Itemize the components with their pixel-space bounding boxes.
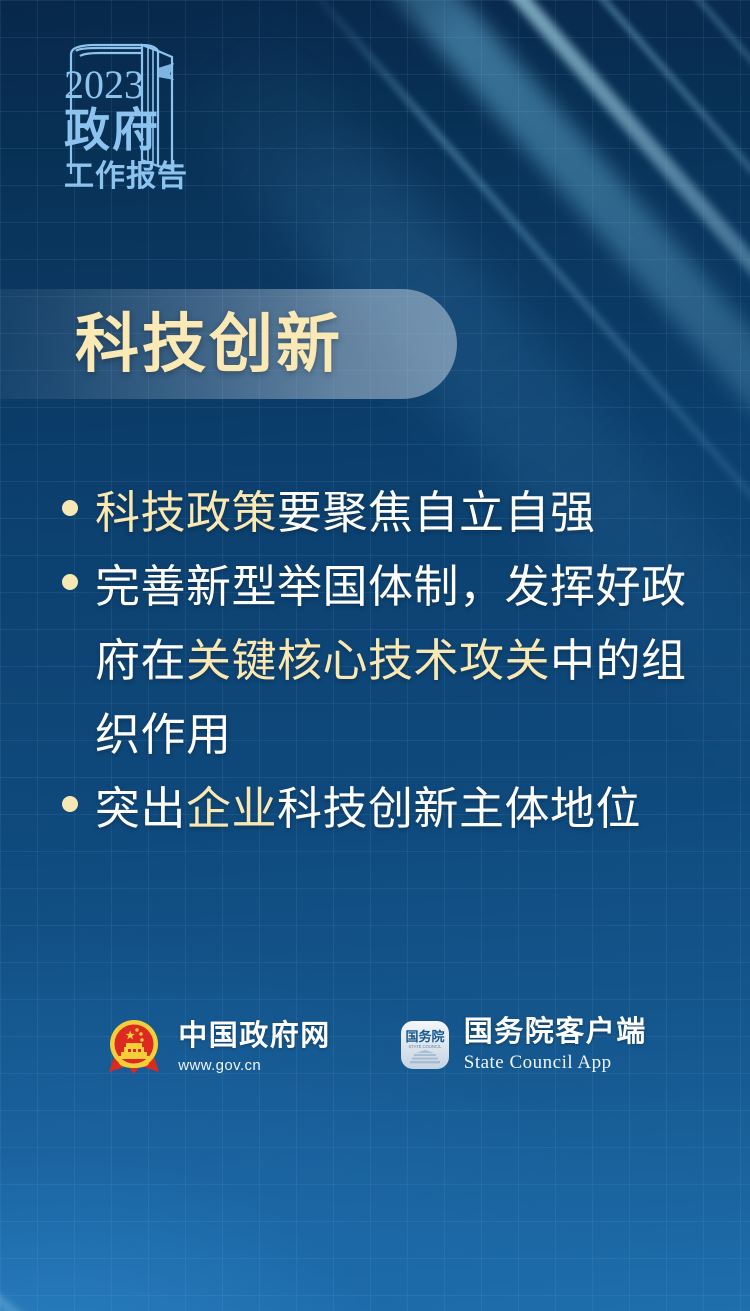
bullet-line: 织作用 — [44, 700, 710, 770]
plain-phrase: 科技创新主体地位 — [277, 783, 641, 834]
plain-phrase: 完善新型举国体制，发挥好政 — [95, 561, 687, 612]
page-title: 科技创新 — [75, 312, 343, 376]
plain-phrase: 要聚焦自立自强 — [277, 487, 596, 538]
svg-text:工作报告: 工作报告 — [64, 160, 188, 193]
bullet-list: 科技政策要聚焦自立自强完善新型举国体制，发挥好政府在关键核心技术攻关中的组织作用… — [44, 478, 710, 848]
footer-brands: 中国政府网 www.gov.cn 国务院 STATE COUNCIL — [0, 1016, 750, 1078]
svg-text:政府: 政府 — [64, 104, 160, 156]
svg-text:2023: 2023 — [64, 62, 144, 107]
bullet-dot-icon — [62, 796, 78, 812]
svg-text:国务院: 国务院 — [405, 1029, 444, 1044]
svg-text:STATE COUNCIL: STATE COUNCIL — [408, 1044, 442, 1049]
poster-root: 2023 政府 工作报告 科技创新 科技政策要聚焦自立自强完善新型举国体制，发挥… — [0, 0, 750, 1311]
brand-name-sub: www.gov.cn — [178, 1057, 331, 1074]
bullet-dot-icon — [62, 574, 78, 590]
bullet-text: 府在关键核心技术攻关中的组 — [95, 626, 710, 696]
state-council-app-icon: 国务院 STATE COUNCIL — [399, 1019, 451, 1071]
highlighted-phrase: 关键核心技术攻关 — [186, 635, 550, 686]
open-book-icon: 2023 政府 工作报告 — [38, 34, 188, 194]
bullet-marker-cell — [44, 774, 95, 812]
brand-gov-cn: 中国政府网 www.gov.cn — [103, 1016, 331, 1078]
light-beam — [0, 875, 441, 1311]
bullet-text: 科技政策要聚焦自立自强 — [95, 478, 710, 548]
highlighted-phrase: 科技政策 — [95, 487, 277, 538]
report-logo: 2023 政府 工作报告 — [38, 34, 188, 194]
brand-state-council-app: 国务院 STATE COUNCIL 国务院客户端 State Council A… — [399, 1016, 647, 1074]
light-beam — [0, 945, 411, 1311]
bullet-marker-cell — [44, 478, 95, 516]
plain-phrase: 突出 — [95, 783, 186, 834]
brand-text: 国务院客户端 State Council App — [464, 1016, 647, 1074]
brand-name-sub: State Council App — [464, 1052, 647, 1074]
bullet-marker-cell — [44, 626, 95, 664]
bullet-text: 织作用 — [95, 700, 710, 770]
plain-phrase: 织作用 — [95, 709, 232, 760]
bullet-line: 府在关键核心技术攻关中的组 — [44, 626, 710, 696]
plain-phrase: 中的组 — [550, 635, 687, 686]
bullet-dot-icon — [62, 500, 78, 516]
bullet-text: 完善新型举国体制，发挥好政 — [95, 552, 710, 622]
bullet-line: 突出企业科技创新主体地位 — [44, 774, 710, 844]
bullet-text: 突出企业科技创新主体地位 — [95, 774, 710, 844]
brand-name-cn: 国务院客户端 — [464, 1016, 647, 1049]
national-emblem-icon — [103, 1016, 165, 1078]
bullet-line: 完善新型举国体制，发挥好政 — [44, 552, 710, 622]
bullet-marker-cell — [44, 552, 95, 590]
brand-text: 中国政府网 www.gov.cn — [178, 1020, 331, 1073]
brand-name-cn: 中国政府网 — [178, 1020, 331, 1053]
plain-phrase: 府在 — [95, 635, 186, 686]
section-title-pill: 科技创新 — [0, 289, 457, 399]
bullet-marker-cell — [44, 700, 95, 738]
bullet-line: 科技政策要聚焦自立自强 — [44, 478, 710, 548]
highlighted-phrase: 企业 — [186, 783, 277, 834]
light-beam — [0, 890, 417, 1311]
